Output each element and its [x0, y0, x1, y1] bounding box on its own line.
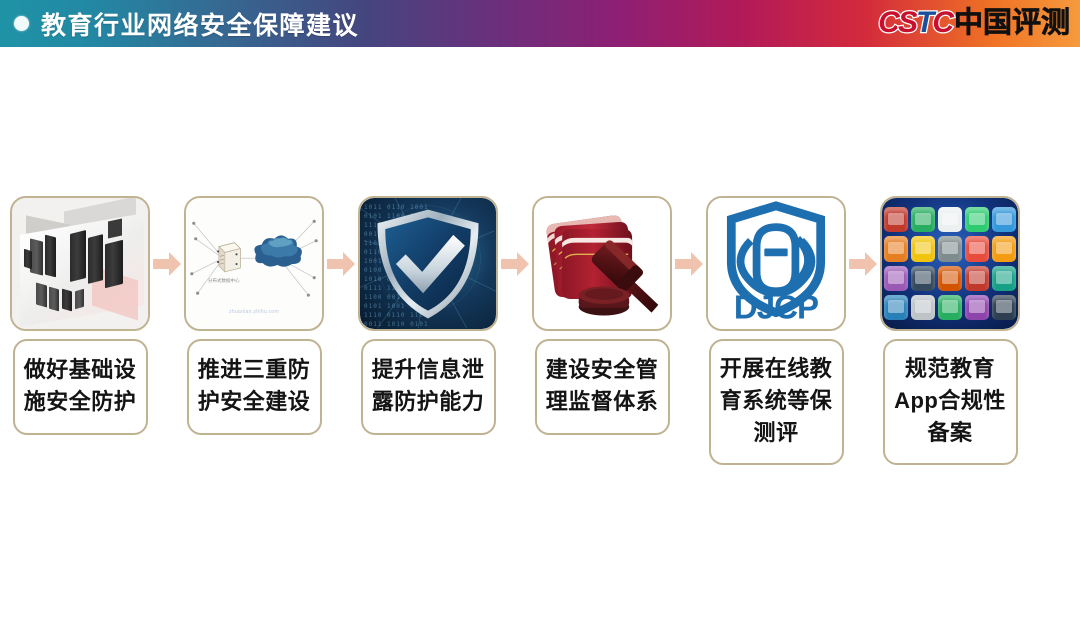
step-6-line-1: 规范教育 — [891, 353, 1010, 385]
step-1-line-2: 施安全防护 — [21, 386, 140, 418]
step-5-line-3: 测评 — [717, 417, 836, 449]
logo-letter-s: S — [898, 6, 916, 39]
recommendation-flow: 做好基础设 施安全防护 — [0, 196, 1080, 465]
flow-step-1[interactable]: 做好基础设 施安全防护 — [10, 196, 150, 435]
step-1-line-1: 做好基础设 — [21, 354, 140, 386]
flow-step-6[interactable]: 规范教育 App合规性 备案 — [880, 196, 1020, 465]
arrow-right-icon-2 — [324, 196, 358, 331]
step-4-text-box: 建设安全管 理监督体系 — [535, 339, 670, 435]
logo-letter-c2: C — [932, 6, 952, 39]
page-title: 教育行业网络安全保障建议 — [41, 6, 359, 42]
app-icon-grid — [884, 207, 1016, 320]
arrow-right-icon-5 — [846, 196, 880, 331]
app-tile — [911, 295, 935, 320]
app-tile — [911, 236, 935, 261]
slide-canvas: 教育行业网络安全保障建议 CSTC 中国评测 — [0, 0, 1080, 622]
app-tile — [992, 207, 1016, 232]
app-tile — [965, 207, 989, 232]
app-tile — [884, 266, 908, 291]
app-tile — [938, 266, 962, 291]
arrow-right-icon-3 — [498, 196, 532, 331]
app-tile — [884, 236, 908, 261]
step-3-icon-frame: 1011 0110 10010101 1100 00111110 0101 10… — [358, 196, 498, 331]
app-tile — [938, 295, 962, 320]
step-6-icon-frame — [880, 196, 1020, 331]
logo-letter-t: T — [916, 6, 932, 39]
step-3-line-1: 提升信息泄 — [369, 354, 488, 386]
flow-step-2[interactable]: 分布式数据中心 zhuanlan.zhihu.com 推进三重防 护安全建设 — [184, 196, 324, 435]
arrow-right-icon-1 — [150, 196, 184, 331]
slide-header-bar: 教育行业网络安全保障建议 CSTC 中国评测 — [0, 0, 1080, 47]
app-tile — [965, 295, 989, 320]
step-5-text-box: 开展在线教 育系统等保 测评 — [709, 339, 844, 465]
circle-bullet-icon — [14, 16, 29, 31]
step-2-icon-caption: 分布式数据中心 — [208, 278, 240, 284]
step-4-line-1: 建设安全管 — [543, 354, 662, 386]
logo-letter-c1: C — [878, 6, 898, 39]
step-6-line-3: 备案 — [891, 417, 1010, 449]
cstc-wordmark: CSTC — [878, 8, 952, 38]
app-tile — [911, 266, 935, 291]
step-1-text-box: 做好基础设 施安全防护 — [13, 339, 148, 435]
step-2-line-2: 护安全建设 — [195, 386, 314, 418]
app-tile — [992, 266, 1016, 291]
step-6-line-2: App合规性 — [891, 385, 1010, 417]
step-5-line-1: 开展在线教 — [717, 353, 836, 385]
app-tile — [965, 236, 989, 261]
app-tile — [884, 295, 908, 320]
step-2-line-1: 推进三重防 — [195, 354, 314, 386]
app-tile — [911, 207, 935, 232]
step-2-icon-watermark: zhuanlan.zhihu.com — [229, 309, 279, 315]
security-shield-check-icon: 1011 0110 10010101 1100 00111110 0101 10… — [360, 198, 496, 329]
flow-step-5[interactable]: DJCP 开展在线教 育系统等保 测评 — [706, 196, 846, 465]
logo-chinese-name: 中国评测 — [954, 9, 1070, 38]
step-2-icon-frame: 分布式数据中心 zhuanlan.zhihu.com — [184, 196, 324, 331]
flow-step-4[interactable]: 建设安全管 理监督体系 — [532, 196, 672, 435]
law-books-gavel-icon — [534, 198, 670, 329]
app-tile — [938, 236, 962, 261]
app-tile — [992, 236, 1016, 261]
app-tile — [965, 266, 989, 291]
step-3-line-2: 露防护能力 — [369, 386, 488, 418]
step-5-icon-frame: DJCP — [706, 196, 846, 331]
data-center-isometric-icon — [12, 198, 148, 329]
cstc-logo: CSTC 中国评测 — [878, 5, 1070, 41]
app-tile — [884, 207, 908, 232]
djcp-emblem-icon: DJCP — [708, 198, 844, 329]
network-topology-icon: 分布式数据中心 zhuanlan.zhihu.com — [186, 198, 322, 329]
app-tile — [938, 207, 962, 232]
svg-text:DJCP: DJCP — [734, 288, 818, 325]
step-4-line-2: 理监督体系 — [543, 386, 662, 418]
step-5-line-2: 育系统等保 — [717, 385, 836, 417]
mobile-app-grid-icon — [882, 198, 1018, 329]
arrow-right-icon-4 — [672, 196, 706, 331]
app-tile — [992, 295, 1016, 320]
step-4-icon-frame — [532, 196, 672, 331]
flow-step-3[interactable]: 1011 0110 10010101 1100 00111110 0101 10… — [358, 196, 498, 435]
step-6-text-box: 规范教育 App合规性 备案 — [883, 339, 1018, 465]
step-2-text-box: 推进三重防 护安全建设 — [187, 339, 322, 435]
step-3-text-box: 提升信息泄 露防护能力 — [361, 339, 496, 435]
step-1-icon-frame — [10, 196, 150, 331]
